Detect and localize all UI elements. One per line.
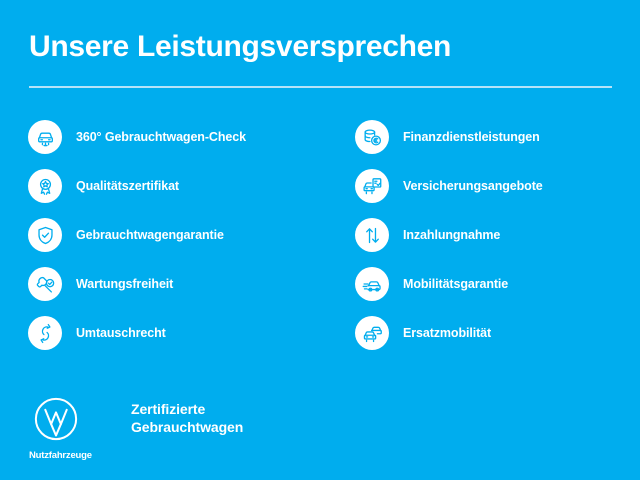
list-item[interactable]: Versicherungsangebote [355, 169, 640, 203]
list-item-label: Gebrauchtwagengarantie [76, 228, 224, 242]
list-item-label: Mobilitätsgarantie [403, 277, 508, 291]
coins-euro-icon [355, 120, 389, 154]
title-divider [29, 86, 612, 88]
list-item-label: Qualitätszertifikat [76, 179, 179, 193]
list-item[interactable]: Finanzdienstleistungen [355, 120, 640, 154]
footer-headline-line1: Zertifizierte [131, 401, 243, 419]
list-item[interactable]: Gebrauchtwagengarantie [28, 218, 318, 252]
two-cars-icon [355, 316, 389, 350]
list-item-label: Ersatzmobilität [403, 326, 491, 340]
list-item[interactable]: Umtauschrecht [28, 316, 318, 350]
list-item-label: Umtauschrecht [76, 326, 166, 340]
exchange-arrows-icon [28, 316, 62, 350]
list-item[interactable]: Ersatzmobilität [355, 316, 640, 350]
list-item-label: Finanzdienstleistungen [403, 130, 540, 144]
list-item-label: Versicherungsangebote [403, 179, 543, 193]
up-down-arrows-icon [355, 218, 389, 252]
list-item[interactable]: Wartungsfreiheit [28, 267, 318, 301]
shield-check-icon [28, 218, 62, 252]
moving-car-icon [355, 267, 389, 301]
logo-subtitle: Nutzfahrzeuge [29, 450, 92, 461]
list-item-label: Inzahlungnahme [403, 228, 500, 242]
benefits-column-left: 360° Gebrauchtwagen-Check Qualitätszerti… [28, 120, 318, 365]
award-rosette-icon [28, 169, 62, 203]
list-item[interactable]: Inzahlungnahme [355, 218, 640, 252]
list-item-label: Wartungsfreiheit [76, 277, 173, 291]
wrench-check-icon [28, 267, 62, 301]
volkswagen-roundel-logo [33, 396, 79, 447]
page-title: Unsere Leistungsversprechen [29, 30, 451, 63]
list-item-label: 360° Gebrauchtwagen-Check [76, 130, 246, 144]
car-inspection-icon [28, 120, 62, 154]
footer-headline-line2: Gebrauchtwagen [131, 419, 243, 437]
list-item[interactable]: Qualitätszertifikat [28, 169, 318, 203]
logo-block: Nutzfahrzeuge [29, 396, 101, 461]
car-document-icon [355, 169, 389, 203]
footer-headline: Zertifizierte Gebrauchtwagen [131, 401, 243, 437]
benefits-column-right: Finanzdienstleistungen Versicherungsange… [355, 120, 640, 365]
slide-root: Unsere Leistungsversprechen 360° Gebrauc… [0, 0, 640, 480]
list-item[interactable]: 360° Gebrauchtwagen-Check [28, 120, 318, 154]
list-item[interactable]: Mobilitätsgarantie [355, 267, 640, 301]
footer-branding: Nutzfahrzeuge Zertifizierte Gebrauchtwag… [29, 396, 243, 461]
